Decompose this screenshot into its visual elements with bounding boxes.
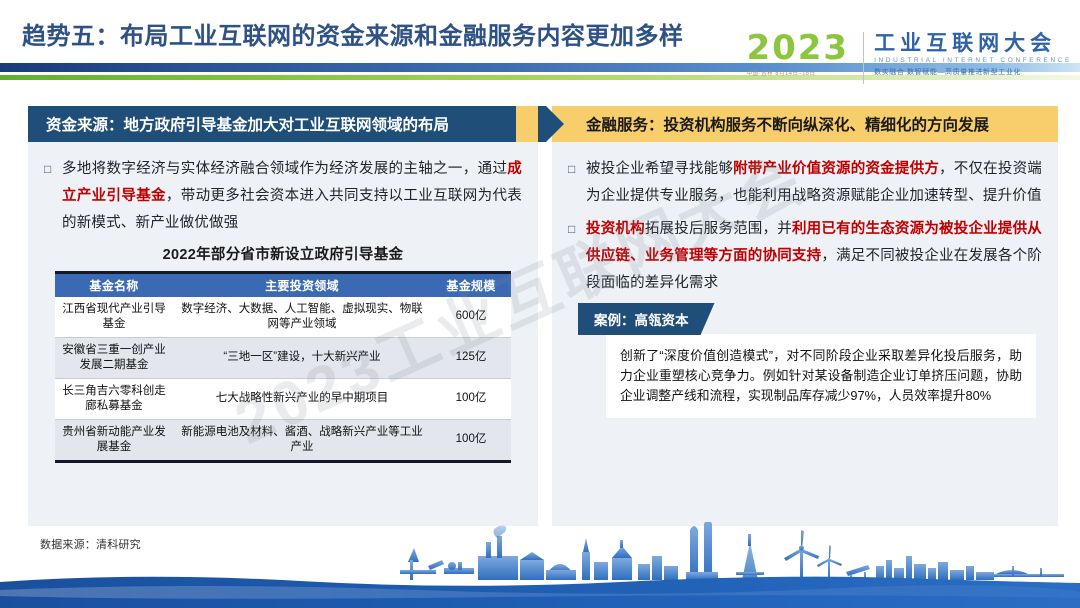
slide-header: 趋势五：布局工业互联网的资金来源和金融服务内容更加多样 2023 中国·吉林 8… [0, 0, 1080, 100]
case-study-body: 创新了“深度价值创造模式”，对不同阶段企业采取差异化投后服务，助力企业重塑核心竞… [606, 334, 1036, 418]
right-bullet-1-text: 被投企业希望寻找能够附带产业价值资源的资金提供方，不仅在投资端为企业提供专业服务… [586, 156, 1042, 210]
left-bullet-text: 多地将数字经济与实体经济融合领域作为经济发展的主轴之一，通过成立产业引导基金，带… [62, 156, 522, 237]
fund-table-header-row: 基金名称 主要投资领域 基金规模 [55, 273, 511, 297]
cell-fund-scale: 600亿 [431, 297, 511, 338]
blue-wave-band [0, 574, 1080, 608]
cell-fund-field: “三地一区”建设，十大新兴产业 [173, 337, 431, 378]
fund-table-col-name: 基金名称 [55, 273, 173, 297]
bullet-square-icon: □ [568, 216, 586, 297]
right-bullet-2-highlight-1: 投资机构 [586, 221, 645, 237]
table-row: 长三角吉六零科创走廊私募基金 七大战略性新兴产业的早中期项目 100亿 [55, 378, 511, 419]
table-row: 贵州省新动能产业发展基金 新能源电池及材料、酱酒、战略新兴产业等工业产业 100… [55, 419, 511, 461]
cell-fund-scale: 100亿 [431, 378, 511, 419]
left-panel: 资金来源：地方政府引导基金加大对工业互联网领域的布局 □ 多地将数字经济与实体经… [28, 106, 538, 526]
right-panel-body: □ 被投企业希望寻找能够附带产业价值资源的资金提供方，不仅在投资端为企业提供专业… [552, 142, 1058, 418]
left-panel-body: □ 多地将数字经济与实体经济融合领域作为经济发展的主轴之一，通过成立产业引导基金… [28, 142, 538, 463]
city-skyline-illustration [0, 522, 1080, 580]
cell-fund-scale: 100亿 [431, 419, 511, 461]
case-tab-notch [578, 335, 606, 344]
fund-table-title: 2022年部分省市新设立政府引导基金 [44, 243, 522, 264]
left-bullet-part1: 多地将数字经济与实体经济融合领域作为经济发展的主轴之一，通过 [62, 161, 507, 177]
right-bullet-2-text: 投资机构拓展投后服务范围，并利用已有的生态资源为被投企业提供从供应链、业务管理等… [586, 216, 1042, 297]
right-bullet-1-highlight: 附带产业价值资源的资金提供方 [733, 161, 939, 177]
logo-conference-en: INDUSTRIAL INTERNET CONFERENCE [874, 57, 1072, 64]
logo-year-text: 2023 [746, 30, 849, 66]
right-panel: 金融服务：投资机构服务不断向纵深化、精细化的方向发展 □ 被投企业希望寻找能够附… [552, 106, 1058, 526]
logo-date-text: 中国·吉林 8月14日–18日 [746, 69, 849, 77]
table-row: 江西省现代产业引导基金 数字经济、大数据、人工智能、虚拟现实、物联网等产业领域 … [55, 297, 511, 338]
cell-fund-scale: 125亿 [431, 337, 511, 378]
cell-fund-name: 贵州省新动能产业发展基金 [55, 419, 173, 461]
bullet-square-icon: □ [44, 156, 62, 237]
cell-fund-field: 数字经济、大数据、人工智能、虚拟现实、物联网等产业领域 [173, 297, 431, 338]
page-title: 趋势五：布局工业互联网的资金来源和金融服务内容更加多样 [22, 16, 684, 51]
right-bullet-1-part1: 被投企业希望寻找能够 [586, 161, 733, 177]
logo-year-block: 2023 中国·吉林 8月14日–18日 [746, 30, 863, 77]
case-study-box: 案例：高瓴资本 创新了“深度价值创造模式”，对不同阶段企业采取差异化投后服务，助… [578, 303, 1036, 418]
blue-chevron-arrow-icon [538, 106, 564, 142]
logo-divider [863, 32, 864, 84]
yellow-chevron-tail-icon [516, 106, 540, 142]
left-bullet-item: □ 多地将数字经济与实体经济融合领域作为经济发展的主轴之一，通过成立产业引导基金… [44, 156, 522, 237]
right-bullet-item-1: □ 被投企业希望寻找能够附带产业价值资源的资金提供方，不仅在投资端为企业提供专业… [568, 156, 1042, 210]
logo-slogan: 数实融合 数智赋能—高质量推进新型工业化 [874, 67, 1072, 77]
right-bullet-2-part1: 拓展投后服务范围，并 [645, 221, 792, 237]
cell-fund-name: 江西省现代产业引导基金 [55, 297, 173, 338]
table-row: 安徽省三重一创产业发展二期基金 “三地一区”建设，十大新兴产业 125亿 [55, 337, 511, 378]
cell-fund-name: 长三角吉六零科创走廊私募基金 [55, 378, 173, 419]
left-panel-header: 资金来源：地方政府引导基金加大对工业互联网领域的布局 [28, 106, 538, 142]
bottom-decoration [0, 522, 1080, 608]
case-study-tab-label: 案例：高瓴资本 [594, 313, 689, 328]
left-panel-header-label: 资金来源：地方政府引导基金加大对工业互联网领域的布局 [46, 113, 449, 135]
right-bullet-item-2: □ 投资机构拓展投后服务范围，并利用已有的生态资源为被投企业提供从供应链、业务管… [568, 216, 1042, 297]
right-panel-header: 金融服务：投资机构服务不断向纵深化、精细化的方向发展 [552, 106, 1058, 142]
case-study-tab: 案例：高瓴资本 [578, 303, 715, 335]
cell-fund-field: 新能源电池及材料、酱酒、战略新兴产业等工业产业 [173, 419, 431, 461]
fund-table-col-field: 主要投资领域 [173, 273, 431, 297]
right-panel-header-label: 金融服务：投资机构服务不断向纵深化、精细化的方向发展 [586, 113, 989, 135]
logo-conference-cn: 工业互联网大会 [874, 32, 1072, 55]
logo-text-block: 工业互联网大会 INDUSTRIAL INTERNET CONFERENCE 数… [874, 30, 1072, 77]
conference-logo: 2023 中国·吉林 8月14日–18日 工业互联网大会 INDUSTRIAL … [746, 30, 1072, 88]
cell-fund-name: 安徽省三重一创产业发展二期基金 [55, 337, 173, 378]
cell-fund-field: 七大战略性新兴产业的早中期项目 [173, 378, 431, 419]
bullet-square-icon: □ [568, 156, 586, 210]
fund-table-col-scale: 基金规模 [431, 273, 511, 297]
fund-table: 基金名称 主要投资领域 基金规模 江西省现代产业引导基金 数字经济、大数据、人工… [55, 271, 511, 463]
